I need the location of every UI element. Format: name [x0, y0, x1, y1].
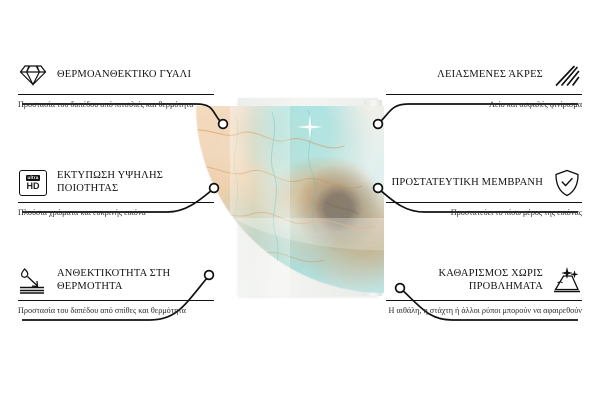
- feature-header: ΠΡΟΣΤΑΤΕΥΤΙΚΗ ΜΕΜΒΡΑΝΗ: [386, 168, 582, 198]
- hd-label: HD: [27, 182, 40, 191]
- infographic-canvas: ΘΕΡΜΟΑΝΘΕΚΤΙΚΟ ΓΥΑΛΙ Προστασία του δαπέδ…: [0, 0, 600, 400]
- smooth-edges-icon: [552, 60, 582, 90]
- feature-title: ΠΡΟΣΤΑΤΕΥΤΙΚΗ ΜΕΜΒΡΑΝΗ: [392, 177, 543, 190]
- feature-header: ultra HD ΕΚΤΥΠΩΣΗ ΥΨΗΛΗΣ ΠΟΙΟΤΗΤΑΣ: [18, 168, 214, 198]
- feature-subtitle: Προστασία του δαπέδου από σπίθες και θερ…: [18, 306, 214, 316]
- feature-subtitle: Λείο και ασφαλές φινίρισμα: [386, 100, 582, 110]
- feature-title: ΘΕΡΜΟΑΝΘΕΚΤΙΚΟ ΓΥΑΛΙ: [57, 69, 191, 82]
- divider: [18, 94, 214, 95]
- ultra-hd-badge-icon: ultra HD: [18, 168, 48, 198]
- feature-header: ΘΕΡΜΟΑΝΘΕΚΤΙΚΟ ΓΥΑΛΙ: [18, 60, 214, 90]
- feature-heat-resistant-glass: ΘΕΡΜΟΑΝΘΕΚΤΙΚΟ ΓΥΑΛΙ Προστασία του δαπέδ…: [18, 60, 214, 110]
- feature-title: ΑΝΘΕΚΤΙΚΟΤΗΤΑ ΣΤΗ ΘΕΡΜΟΤΗΤΑ: [57, 268, 214, 293]
- feature-header: ΚΑΘΑΡΙΣΜΟΣ ΧΩΡΙΣ ΠΡΟΒΛΗΜΑΤΑ: [386, 266, 582, 296]
- feature-title: ΕΚΤΥΠΩΣΗ ΥΨΗΛΗΣ ΠΟΙΟΤΗΤΑΣ: [57, 170, 214, 195]
- sponge-sparkle-icon: [552, 266, 582, 296]
- feature-header: ΑΝΘΕΚΤΙΚΟΤΗΤΑ ΣΤΗ ΘΕΡΜΟΤΗΤΑ: [18, 266, 214, 296]
- feature-subtitle: Προστατεύει το πίσω μέρος της εικόνας: [386, 208, 582, 218]
- feature-heat-durability: ΑΝΘΕΚΤΙΚΟΤΗΤΑ ΣΤΗ ΘΕΡΜΟΤΗΤΑ Προστασία το…: [18, 266, 214, 316]
- feature-subtitle: Προστασία του δαπέδου από πιτσιλιές και …: [18, 100, 214, 110]
- heat-resistance-icon: [18, 266, 48, 296]
- divider: [18, 300, 214, 301]
- feature-high-quality-print: ultra HD ΕΚΤΥΠΩΣΗ ΥΨΗΛΗΣ ΠΟΙΟΤΗΤΑΣ Πλούσ…: [18, 168, 214, 218]
- feature-title: ΛΕΙΑΣΜΕΝΕΣ ΆΚΡΕΣ: [437, 69, 543, 82]
- feature-easy-cleaning: ΚΑΘΑΡΙΣΜΟΣ ΧΩΡΙΣ ΠΡΟΒΛΗΜΑΤΑ Η αιθάλη, η …: [386, 266, 582, 316]
- feature-subtitle: Πλούσια χρώματα και ευκρινής εικόνα: [18, 208, 214, 218]
- feature-title: ΚΑΘΑΡΙΣΜΟΣ ΧΩΡΙΣ ΠΡΟΒΛΗΜΑΤΑ: [386, 268, 543, 293]
- divider: [386, 94, 582, 95]
- diamond-icon: [18, 60, 48, 90]
- divider: [386, 202, 582, 203]
- shield-check-icon: [552, 168, 582, 198]
- feature-protective-membrane: ΠΡΟΣΤΑΤΕΥΤΙΚΗ ΜΕΜΒΡΑΝΗ Προστατεύει το πί…: [386, 168, 582, 218]
- feature-header: ΛΕΙΑΣΜΕΝΕΣ ΆΚΡΕΣ: [386, 60, 582, 90]
- feature-subtitle: Η αιθάλη, η στάχτη ή άλλοι ρύποι μπορούν…: [386, 306, 582, 316]
- feature-smooth-edges: ΛΕΙΑΣΜΕΝΕΣ ΆΚΡΕΣ Λείο και ασφαλές φινίρι…: [386, 60, 582, 110]
- divider: [18, 202, 214, 203]
- divider: [386, 300, 582, 301]
